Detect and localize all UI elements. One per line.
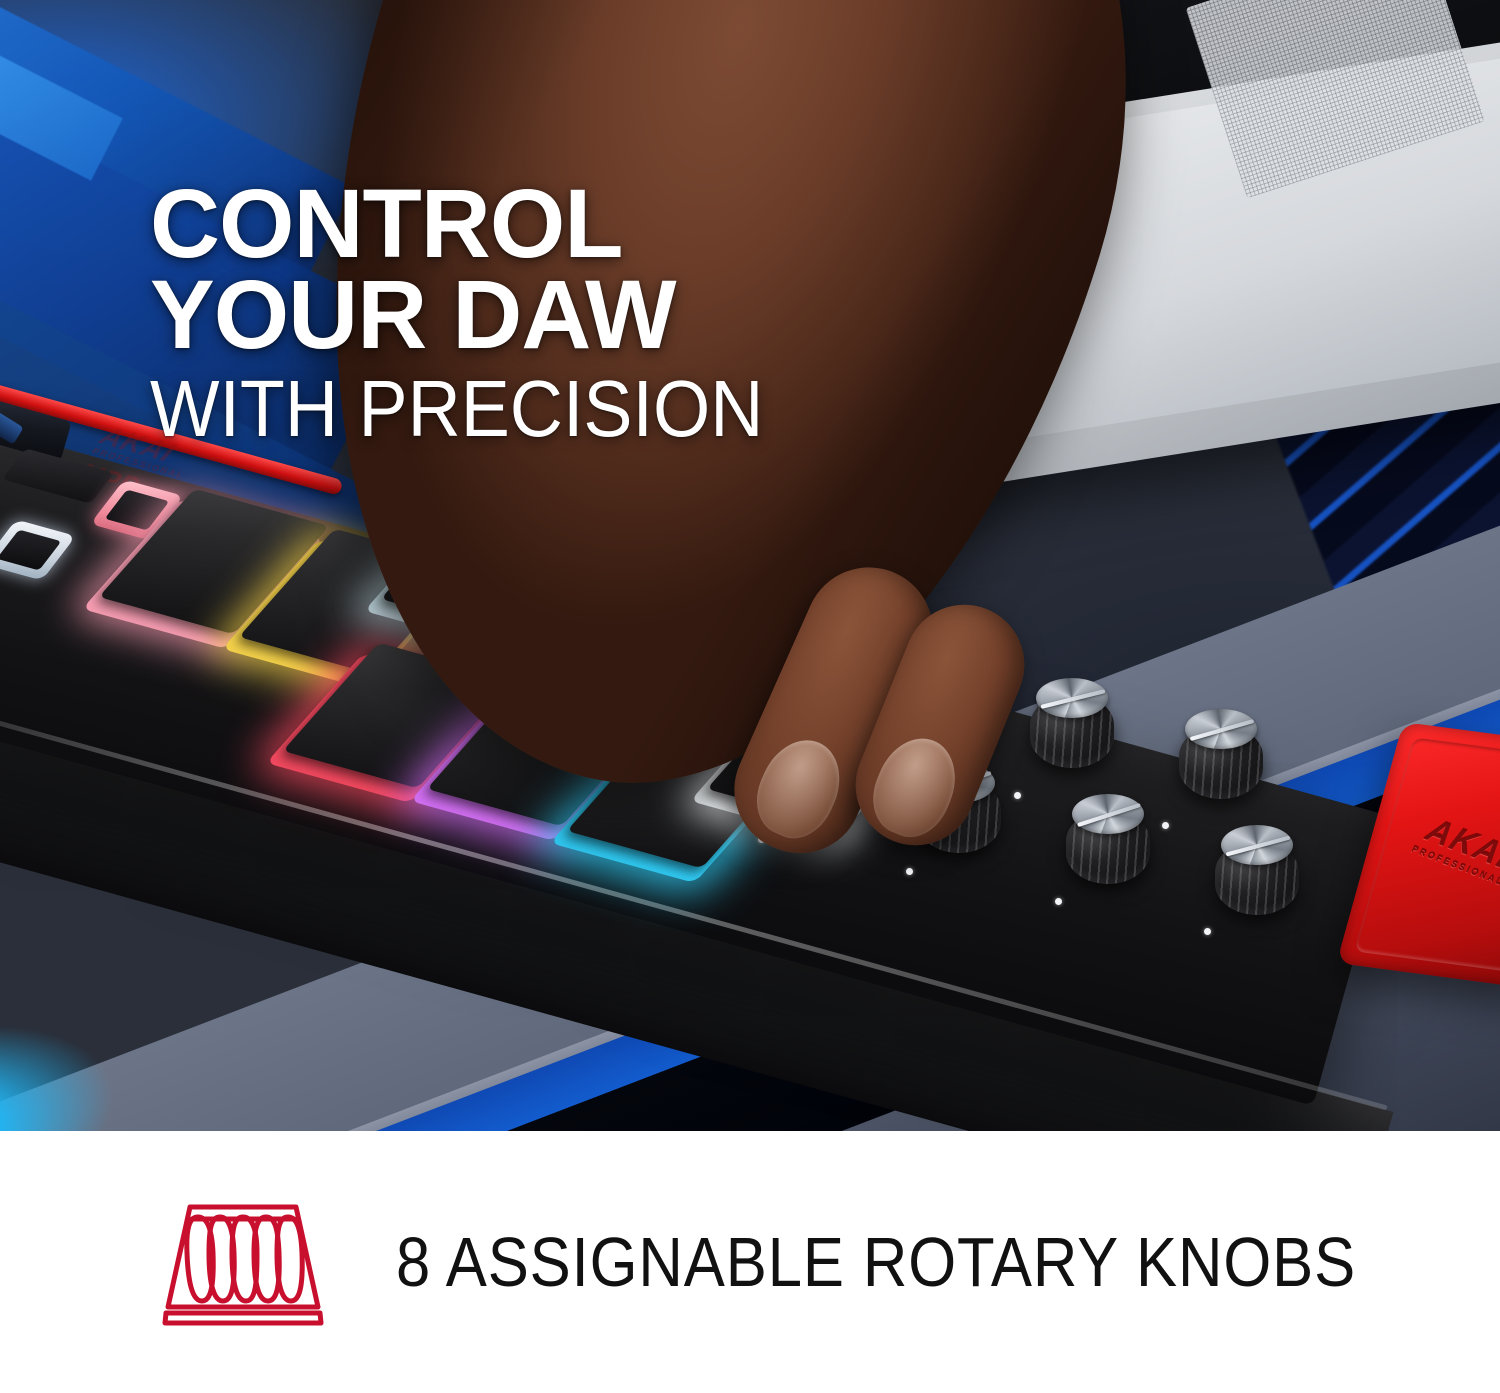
caption-text: 8 ASSIGNABLE ROTARY KNOBS <box>396 1222 1356 1302</box>
knob-pointer <box>1226 836 1291 857</box>
product-photo: G H J K L ; ' | delete X C V B N <box>0 0 1500 1131</box>
knob-3[interactable] <box>1024 676 1120 772</box>
knob-7[interactable] <box>1060 792 1156 888</box>
fingernail <box>861 727 969 848</box>
button-cap <box>0 530 61 570</box>
panel-marker-dot <box>1162 822 1169 829</box>
knob-8[interactable] <box>1209 823 1305 919</box>
knob-4[interactable] <box>1173 707 1269 803</box>
endcap-inner-bevel <box>1354 737 1500 972</box>
rotary-knob-icon <box>158 1195 328 1330</box>
knob-cap <box>1185 709 1257 749</box>
caption-bar: 8 ASSIGNABLE ROTARY KNOBS <box>0 1131 1500 1393</box>
panel-marker-dot <box>1204 928 1211 935</box>
product-feature-image: G H J K L ; ' | delete X C V B N <box>0 0 1500 1393</box>
fingernail <box>744 727 854 849</box>
knob-cap <box>1036 678 1108 718</box>
knob-cap <box>1072 794 1144 834</box>
panel-marker-dot <box>1014 792 1021 799</box>
knob-pointer <box>1190 719 1255 741</box>
knob-pointer <box>1040 689 1105 709</box>
panel-marker-dot <box>1055 898 1062 905</box>
knob-cap <box>1221 825 1293 865</box>
knob-pointer <box>1077 803 1141 827</box>
panel-marker-dot <box>906 868 913 875</box>
